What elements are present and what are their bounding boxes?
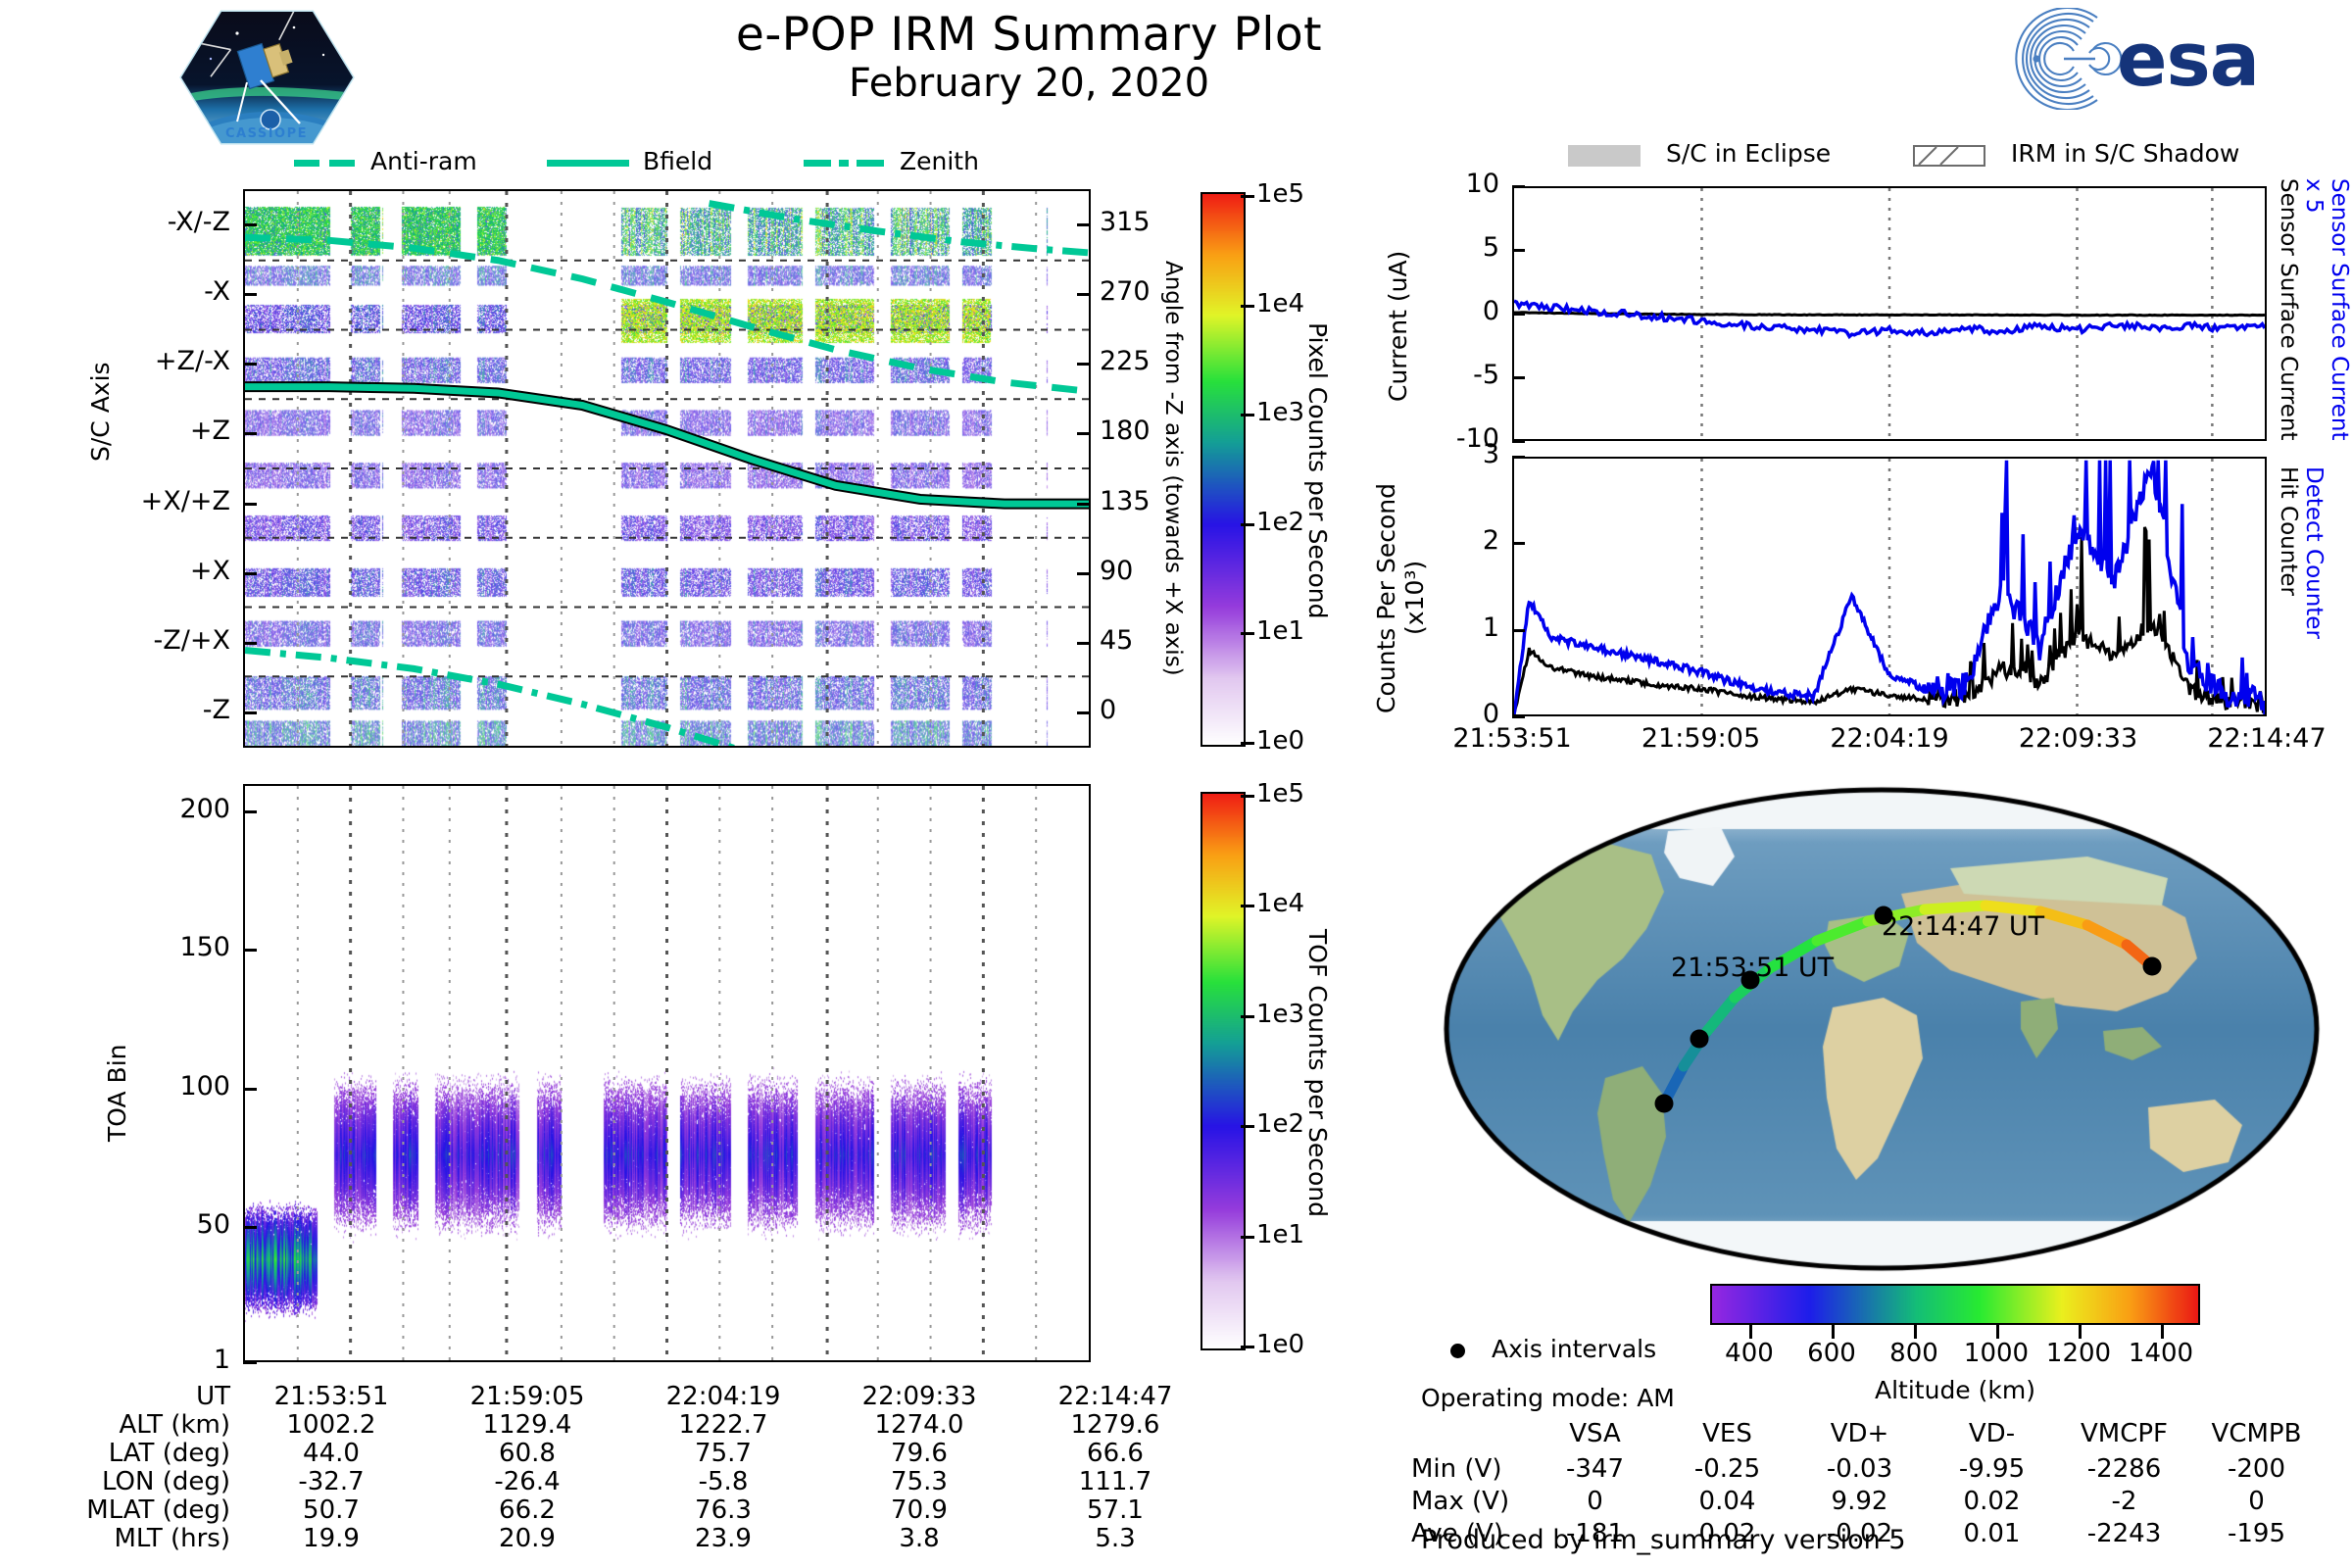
altitude-tick [2079, 1325, 2082, 1339]
voltage-cell: 0.02 [1926, 1487, 2058, 1516]
voltage-column-header: VES [1661, 1419, 1793, 1448]
map-start-time-label: 21:53:51 UT [1671, 953, 1834, 983]
ephemeris-cell: 21:59:05 [439, 1382, 615, 1411]
legend-swatch-eclipse [1568, 145, 1641, 167]
tof-counts-colorbar [1200, 792, 1246, 1350]
colorbar-tick-label: 1e3 [1256, 1000, 1304, 1029]
tof-counts-colorbar-label: TOF Counts per Second [1303, 833, 1332, 1313]
current-ytick [1512, 185, 1525, 188]
voltage-cell: 9.92 [1793, 1487, 1926, 1516]
counts-ytick [1512, 629, 1525, 632]
angle-ytick [243, 711, 257, 714]
current-right-label-black: Sensor Surface Current [2276, 178, 2301, 453]
map-end-time-label: 22:14:47 UT [1882, 911, 2044, 942]
angle-ytick-label: +Z [59, 416, 230, 446]
counts-xtick-label: 21:59:05 [1593, 723, 1809, 754]
colorbar-tick [1241, 195, 1254, 198]
altitude-tick-label: 1400 [2122, 1339, 2200, 1368]
toa-ytick [243, 1088, 257, 1091]
legend-label-anti-ram: Anti-ram [370, 147, 477, 175]
ephemeris-row-label: MLT (hrs) [59, 1524, 230, 1553]
ephemeris-cell: 1279.6 [1027, 1410, 1203, 1440]
ephemeris-cell: 70.9 [831, 1495, 1007, 1525]
legend-label-eclipse: S/C in Eclipse [1666, 139, 1831, 168]
angle-ytick-label: -X/-Z [59, 207, 230, 237]
angle-ytick-right [1077, 223, 1091, 226]
colorbar-tick-label: 1e0 [1256, 726, 1304, 756]
angle-ytick-right [1077, 642, 1091, 645]
ephemeris-cell: 76.3 [635, 1495, 811, 1525]
counts-xtick-label: 21:53:51 [1404, 723, 1620, 754]
altitude-tick-label: 400 [1710, 1339, 1788, 1368]
voltage-row-label: Max (V) [1411, 1487, 1519, 1516]
counts-xtick-label: 22:09:33 [1971, 723, 2186, 754]
operating-mode-label: Operating mode: AM [1421, 1384, 1675, 1412]
counts-ytick-label: 2 [1411, 525, 1499, 556]
counts-ytick [1512, 715, 1525, 718]
voltage-cell: -347 [1529, 1454, 1661, 1484]
colorbar-tick [1241, 305, 1254, 308]
colorbar-tick-label: 1e4 [1256, 889, 1304, 918]
colorbar-tick [1241, 742, 1254, 745]
angle-ytick-right [1077, 432, 1091, 435]
legend-swatch-anti-ram-2 [329, 160, 355, 167]
altitude-colorbar-label: Altitude (km) [1710, 1376, 2200, 1404]
counts-panel-ylabel: Counts Per Second (x10³) [1372, 480, 1429, 715]
colorbar-tick-label: 1e5 [1256, 779, 1304, 808]
colorbar-tick-label: 1e5 [1256, 179, 1304, 209]
colorbar-tick-label: 1e2 [1256, 508, 1304, 537]
angle-ytick-right [1077, 293, 1091, 296]
angle-ytick-label: +X [59, 556, 230, 586]
angle-ytick-label: +X/+Z [59, 486, 230, 516]
angle-ytick [243, 363, 257, 366]
page-title: e-POP IRM Summary Plot [510, 8, 1548, 62]
current-ytick-label: 0 [1392, 296, 1499, 326]
esa-logo: esa [1999, 8, 2323, 110]
counts-panel-plot[interactable] [1512, 457, 2267, 716]
legend-swatch-irm-shadow [1913, 145, 1985, 167]
angle-panel-legend: Anti-ram Bfield Zenith [294, 147, 1078, 180]
colorbar-tick-label: 1e3 [1256, 398, 1304, 427]
counts-xtick-label: 22:14:47 [2159, 723, 2352, 754]
voltage-cell: -0.25 [1661, 1454, 1793, 1484]
toa-panel-plot[interactable] [243, 784, 1091, 1362]
toa-ytick [243, 1361, 257, 1364]
legend-swatch-zenith-b [839, 160, 849, 167]
angle-ytick-right-label: 0 [1100, 695, 1116, 725]
angle-ytick-right-label: 315 [1100, 207, 1151, 237]
legend-label-zenith: Zenith [900, 147, 979, 175]
colorbar-tick-label: 1e0 [1256, 1330, 1304, 1359]
angle-panel-right-axis-label: Angle from -Z axis (towards +X axis) [1160, 223, 1186, 713]
angle-ytick-right-label: 90 [1100, 556, 1133, 586]
current-ytick-label: -5 [1392, 360, 1499, 390]
toa-ytick [243, 810, 257, 813]
angle-ytick-right-label: 135 [1100, 486, 1151, 516]
toa-ytick [243, 1226, 257, 1229]
colorbar-tick-label: 1e2 [1256, 1109, 1304, 1139]
legend-swatch-bfield [547, 160, 629, 167]
voltage-row-label: Min (V) [1411, 1454, 1519, 1484]
ephemeris-cell: 22:14:47 [1027, 1382, 1203, 1411]
altitude-tick [2161, 1325, 2164, 1339]
ephemeris-cell: 79.6 [831, 1439, 1007, 1468]
legend-label-irm-shadow: IRM in S/C Shadow [2011, 139, 2239, 168]
ephemeris-cell: 66.6 [1027, 1439, 1203, 1468]
ephemeris-cell: 1002.2 [243, 1410, 419, 1440]
angle-ytick [243, 223, 257, 226]
counts-ytick-label: 3 [1411, 439, 1499, 469]
angle-ytick-right-label: 180 [1100, 416, 1151, 446]
ephemeris-row-label: MLAT (deg) [59, 1495, 230, 1525]
ephemeris-cell: 20.9 [439, 1524, 615, 1553]
voltage-column-header: VMCPF [2058, 1419, 2190, 1448]
current-ytick-label: 10 [1392, 169, 1499, 199]
voltage-cell: 0.01 [1926, 1519, 2058, 1548]
colorbar-tick [1241, 905, 1254, 907]
voltage-stats-table: VSAVESVD+VD-VMCPFVCMPBMin (V)-347-0.25-0… [1411, 1419, 2323, 1537]
colorbar-tick [1241, 1125, 1254, 1128]
current-ytick-label: 5 [1392, 232, 1499, 263]
angle-ytick [243, 293, 257, 296]
produced-by-label: Produced by irm_summary version 5 [1421, 1525, 1906, 1555]
ephemeris-cell: 1129.4 [439, 1410, 615, 1440]
ephemeris-cell: 57.1 [1027, 1495, 1203, 1525]
current-panel-legend: S/C in Eclipse IRM in S/C Shadow [1568, 139, 2332, 171]
current-ytick [1512, 313, 1525, 316]
ephemeris-row-label: LON (deg) [59, 1467, 230, 1496]
voltage-cell: 0 [1529, 1487, 1661, 1516]
voltage-column-header: VCMPB [2190, 1419, 2323, 1448]
legend-swatch-zenith-a [804, 160, 831, 167]
angle-ytick-right [1077, 363, 1091, 366]
colorbar-tick-label: 1e1 [1256, 616, 1304, 646]
ephemeris-cell: 21:53:51 [243, 1382, 419, 1411]
ephemeris-cell: 1274.0 [831, 1410, 1007, 1440]
angle-ytick-label: -X [59, 276, 230, 307]
current-ytick [1512, 440, 1525, 443]
toa-ytick-label: 200 [108, 794, 230, 824]
colorbar-tick-label: 1e1 [1256, 1220, 1304, 1249]
axis-intervals-label: Axis intervals [1492, 1335, 1656, 1363]
ephemeris-cell: 66.2 [439, 1495, 615, 1525]
ephemeris-cell: -26.4 [439, 1467, 615, 1496]
esa-wordmark: esa [2117, 16, 2259, 103]
voltage-cell: -200 [2190, 1454, 2323, 1484]
angle-ytick-right-label: 45 [1100, 625, 1133, 656]
altitude-tick [1914, 1325, 1917, 1339]
ephemeris-row-label: LAT (deg) [59, 1439, 230, 1468]
angle-ytick-label: -Z [59, 695, 230, 725]
altitude-tick-label: 1200 [2039, 1339, 2118, 1368]
ephemeris-row-label: UT [59, 1382, 230, 1411]
counts-ytick [1512, 542, 1525, 545]
angle-ytick-right [1077, 572, 1091, 575]
voltage-cell: -0.03 [1793, 1454, 1926, 1484]
toa-ytick-label: 50 [108, 1209, 230, 1240]
colorbar-tick [1241, 632, 1254, 635]
altitude-tick-label: 800 [1875, 1339, 1953, 1368]
counts-ytick-label: 1 [1411, 612, 1499, 643]
altitude-tick-label: 600 [1792, 1339, 1871, 1368]
ephemeris-row-label: ALT (km) [59, 1410, 230, 1440]
voltage-cell: -195 [2190, 1519, 2323, 1548]
altitude-tick-label: 1000 [1957, 1339, 2035, 1368]
legend-swatch-zenith-c [857, 160, 884, 167]
svg-text:CASSIOPE: CASSIOPE [225, 126, 308, 141]
ephemeris-cell: 60.8 [439, 1439, 615, 1468]
ephemeris-cell: 19.9 [243, 1524, 419, 1553]
current-ytick [1512, 249, 1525, 252]
legend-label-bfield: Bfield [643, 147, 712, 175]
toa-ytick-label: 150 [108, 932, 230, 962]
ephemeris-cell: 50.7 [243, 1495, 419, 1525]
angle-ytick-right [1077, 711, 1091, 714]
counts-right-label-black: Hit Counter [2276, 466, 2301, 692]
colorbar-tick [1241, 1015, 1254, 1018]
voltage-cell: 0.04 [1661, 1487, 1793, 1516]
angle-ytick-right-label: 270 [1100, 276, 1151, 307]
toa-ytick-label: 100 [108, 1071, 230, 1102]
angle-ytick-label: -Z/+X [59, 625, 230, 656]
voltage-cell: 0 [2190, 1487, 2323, 1516]
angle-ytick [243, 572, 257, 575]
ephemeris-cell: 75.7 [635, 1439, 811, 1468]
current-ytick [1512, 376, 1525, 379]
angle-ytick-right-label: 225 [1100, 346, 1151, 376]
ephemeris-table: UT21:53:5121:59:0522:04:1922:09:3322:14:… [59, 1382, 1215, 1558]
colorbar-tick [1241, 523, 1254, 526]
ephemeris-cell: 75.3 [831, 1467, 1007, 1496]
ephemeris-cell: 111.7 [1027, 1467, 1203, 1496]
colorbar-tick [1241, 1236, 1254, 1239]
voltage-cell: -2243 [2058, 1519, 2190, 1548]
ephemeris-cell: 1222.7 [635, 1410, 811, 1440]
angle-ytick [243, 432, 257, 435]
colorbar-tick [1241, 1346, 1254, 1348]
counts-xtick-label: 22:04:19 [1782, 723, 1997, 754]
ground-track-map[interactable]: 21:53:51 UT 22:14:47 UT [1441, 784, 2323, 1274]
colorbar-tick-label: 1e4 [1256, 289, 1304, 318]
ephemeris-cell: -32.7 [243, 1467, 419, 1496]
angle-ytick [243, 503, 257, 506]
page-subtitle-date: February 20, 2020 [510, 61, 1548, 106]
colorbar-tick [1241, 795, 1254, 798]
current-panel-plot[interactable] [1512, 186, 2267, 441]
counts-right-label-blue: Detect Counter [2301, 466, 2327, 692]
angle-panel-plot[interactable] [243, 189, 1091, 748]
angle-ytick-right [1077, 503, 1091, 506]
angle-ytick [243, 642, 257, 645]
current-right-label-blue: Sensor Surface Current x 5 [2301, 178, 2352, 453]
voltage-cell: -9.95 [1926, 1454, 2058, 1484]
voltage-column-header: VD- [1926, 1419, 2058, 1448]
ephemeris-cell: -5.8 [635, 1467, 811, 1496]
altitude-tick [1996, 1325, 1999, 1339]
ephemeris-cell: 44.0 [243, 1439, 419, 1468]
pixel-counts-colorbar [1200, 192, 1246, 747]
colorbar-tick [1241, 414, 1254, 416]
voltage-cell: -2 [2058, 1487, 2190, 1516]
ephemeris-cell: 22:09:33 [831, 1382, 1007, 1411]
axis-interval-marker-icon [1450, 1344, 1465, 1358]
angle-ytick-label: +Z/-X [59, 346, 230, 376]
toa-ytick-label: 1 [108, 1345, 230, 1375]
altitude-tick [1749, 1325, 1752, 1339]
toa-ytick [243, 949, 257, 952]
counts-ytick [1512, 456, 1525, 459]
voltage-cell: -2286 [2058, 1454, 2190, 1484]
ephemeris-cell: 3.8 [831, 1524, 1007, 1553]
ephemeris-cell: 23.9 [635, 1524, 811, 1553]
legend-swatch-anti-ram [294, 160, 319, 167]
ephemeris-cell: 22:04:19 [635, 1382, 811, 1411]
pixel-counts-colorbar-label: Pixel Counts per Second [1303, 225, 1332, 715]
altitude-tick [1832, 1325, 1835, 1339]
altitude-colorbar [1710, 1284, 2200, 1325]
cassiope-logo: CASSIOPE [176, 4, 358, 151]
voltage-column-header: VSA [1529, 1419, 1661, 1448]
voltage-column-header: VD+ [1793, 1419, 1926, 1448]
ephemeris-cell: 5.3 [1027, 1524, 1203, 1553]
